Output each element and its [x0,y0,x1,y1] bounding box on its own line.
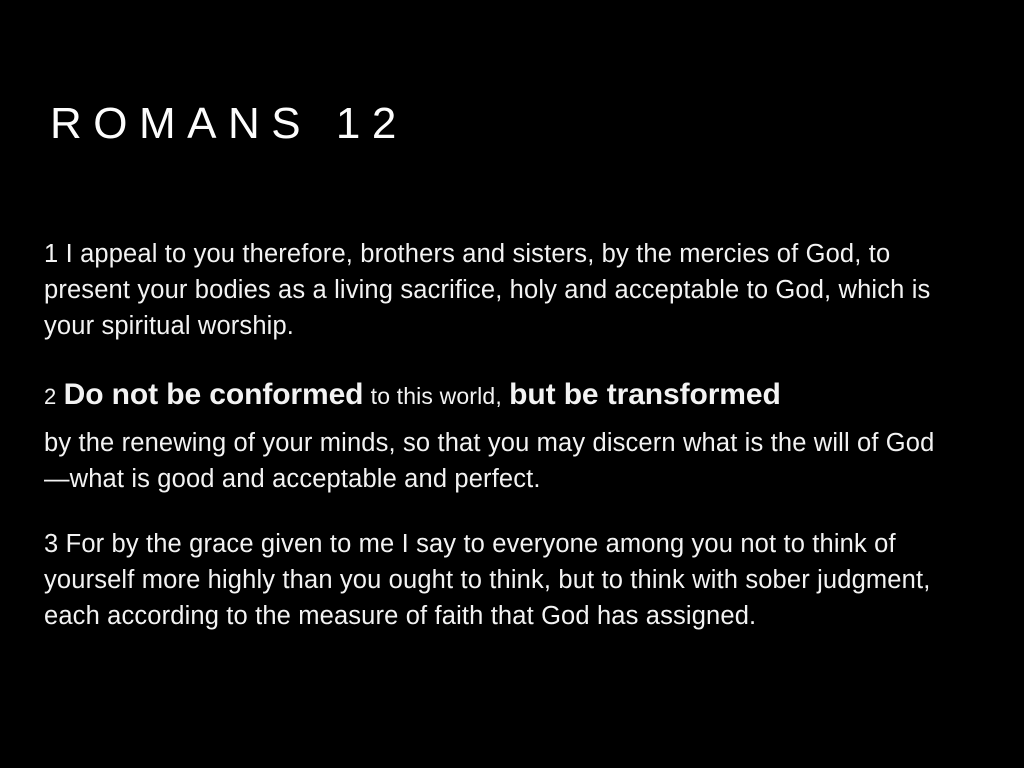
verse-text-1: I appeal to you therefore, brothers and … [44,240,930,340]
verse-text-3: For by the grace given to me I say to ev… [44,530,930,630]
verse-number-1: 1 [44,240,58,268]
verse-paragraph-2: 2 Do not be conformed to this world, but… [44,373,950,497]
verse-2-middle-text: to this world, [371,383,502,409]
slide-title: ROMANS 12 [50,100,408,148]
scripture-body: 1 I appeal to you therefore, brothers an… [44,236,950,634]
verse-paragraph-3: 3 For by the grace given to me I say to … [44,526,950,634]
verse-2-emphasis-first: Do not be conformed [64,378,364,411]
verse-2-emphasis-second: but be transformed [509,378,781,411]
verse-number-2: 2 [44,384,56,409]
verse-2-remaining-text: by the renewing of your minds, so that y… [44,425,950,497]
verse-number-3: 3 [44,530,58,558]
verse-paragraph-1: 1 I appeal to you therefore, brothers an… [44,236,950,344]
presentation-slide: ROMANS 12 1 I appeal to you therefore, b… [0,0,1024,768]
